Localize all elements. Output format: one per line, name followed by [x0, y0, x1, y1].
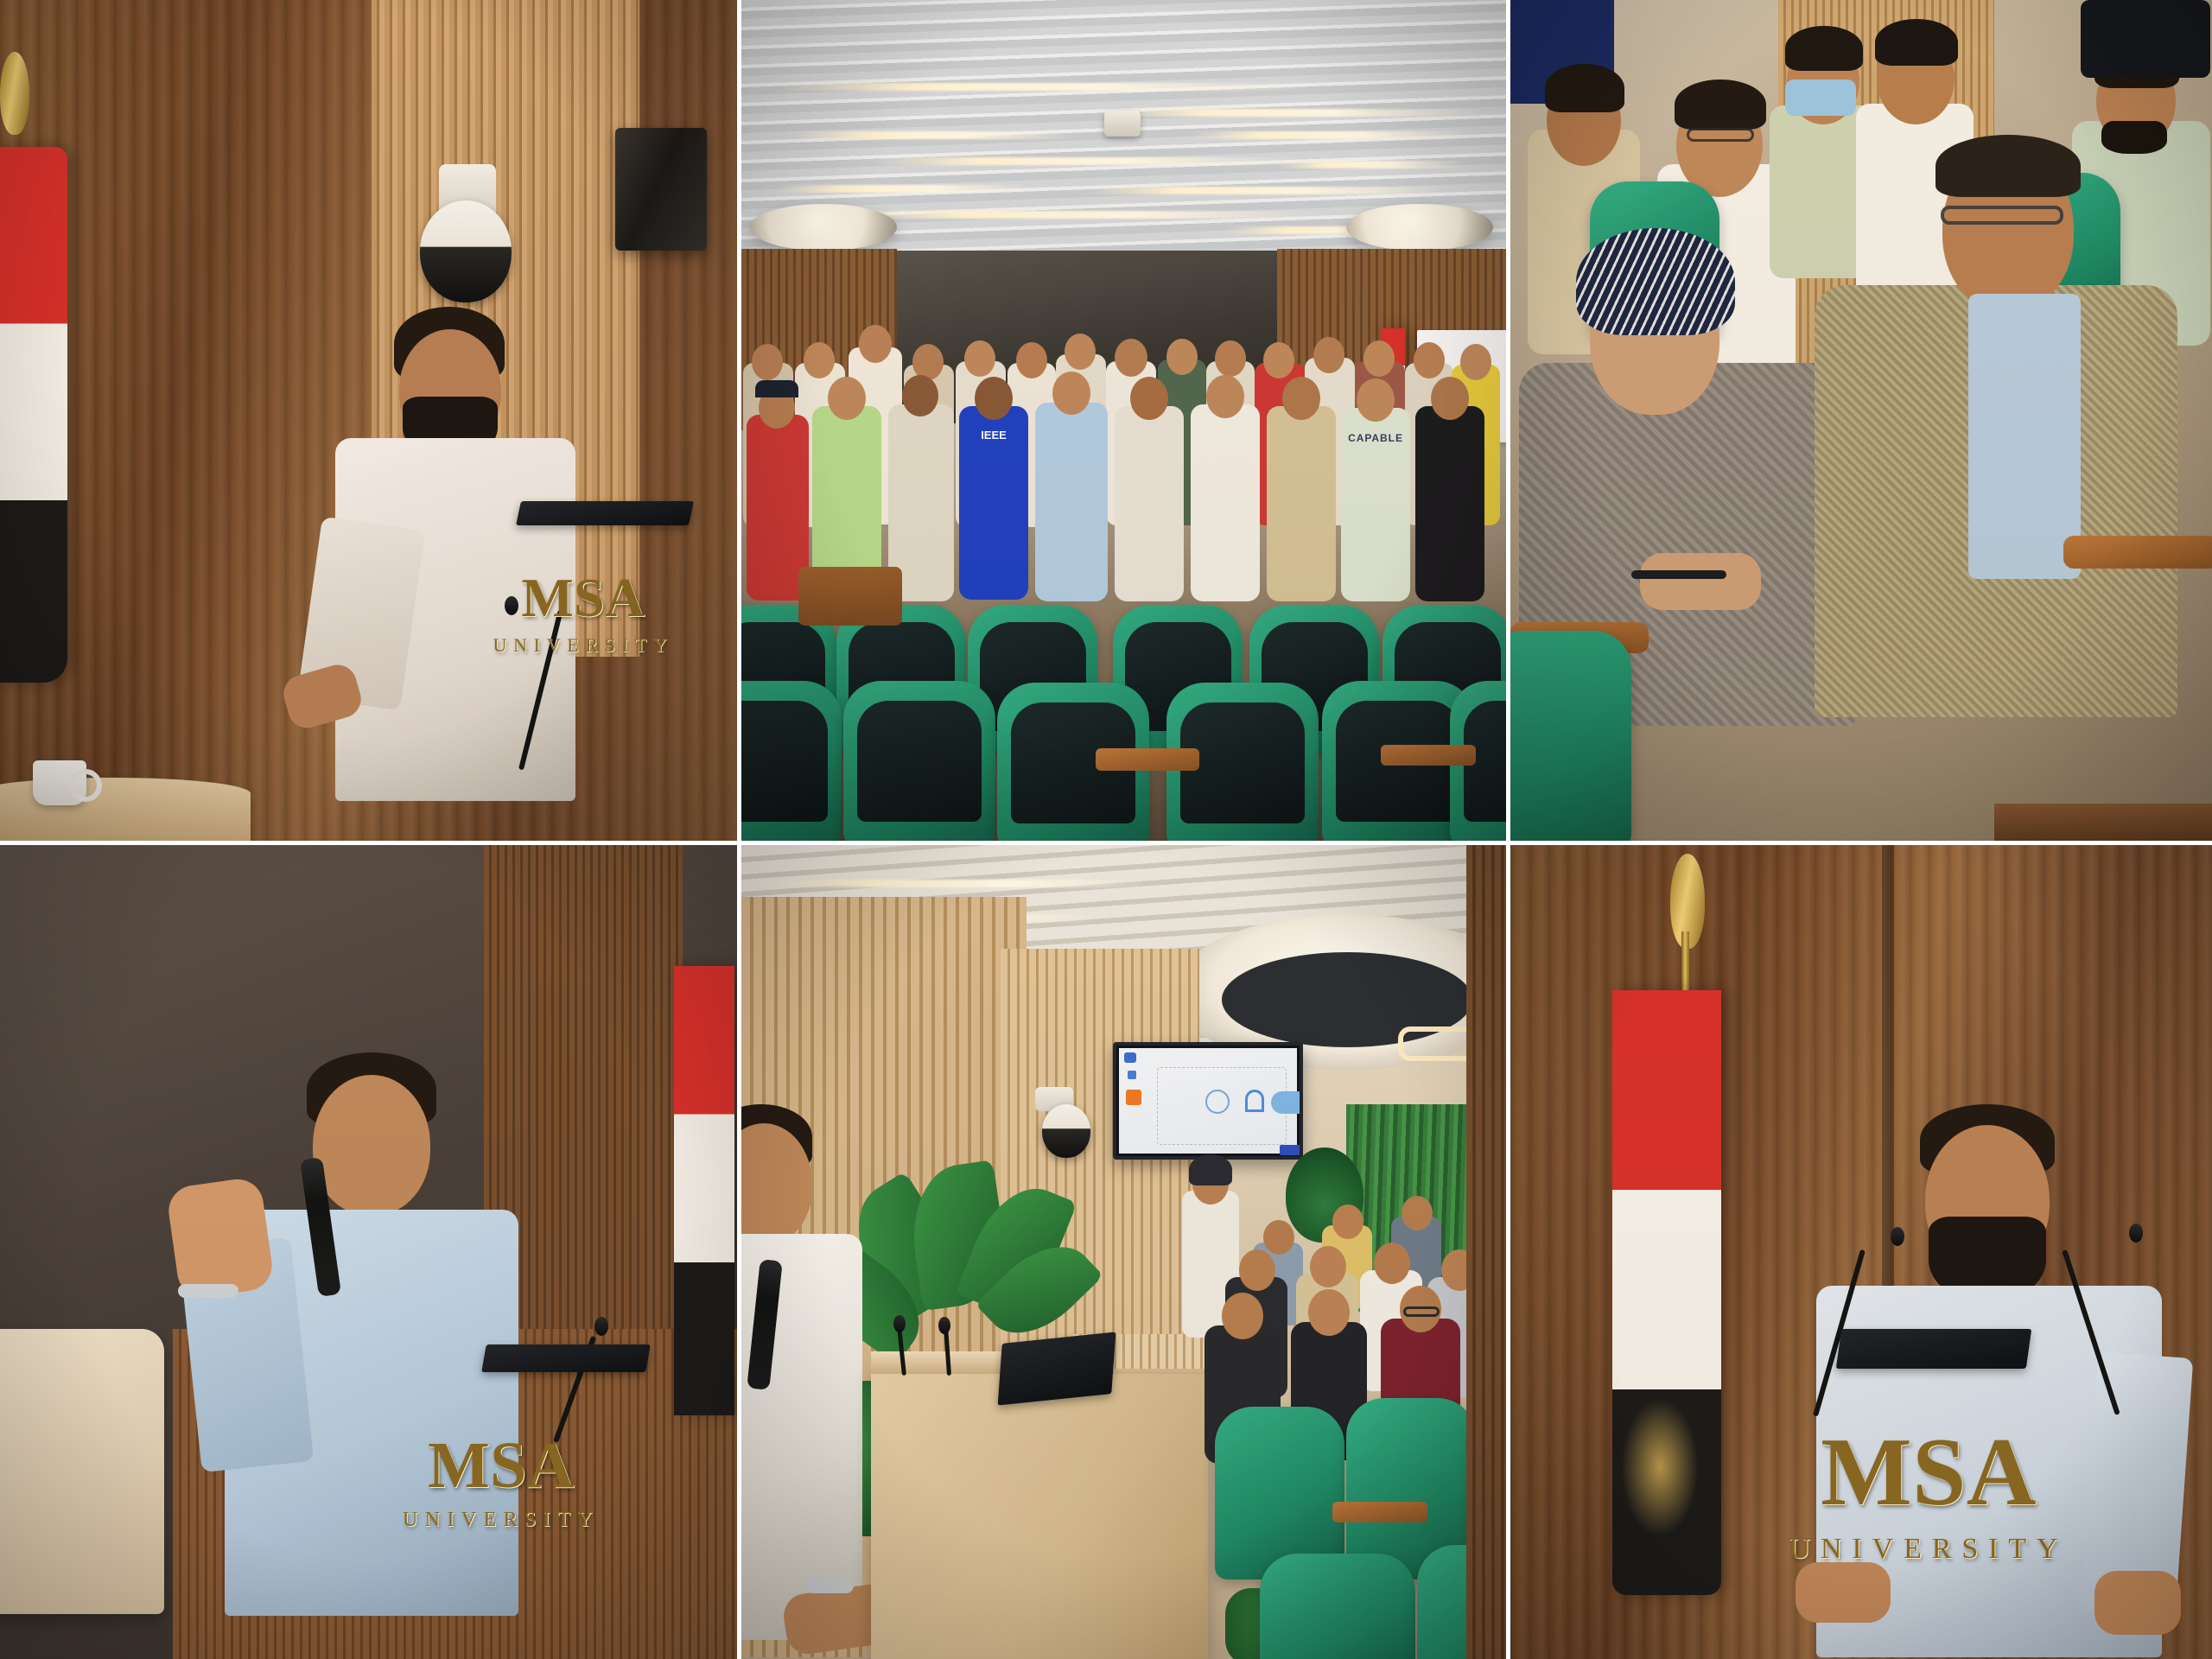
raised-hand — [165, 1176, 275, 1300]
cap-icon — [755, 380, 798, 397]
man-eyeglasses-icon — [1941, 206, 2063, 225]
microphone-head-icon-left — [1891, 1227, 1904, 1246]
woman-eyeglasses-held — [1631, 570, 1726, 579]
photo-collage: MSA UNIVERSITY Bearded speaker in white … — [0, 0, 2212, 1659]
laptop-on-podium — [516, 501, 694, 525]
photo-panel-top-right[interactable]: Seated audience: senior woman in headsca… — [1510, 0, 2212, 845]
tv-screen — [1119, 1048, 1297, 1154]
microphone-head-icon-2 — [938, 1317, 950, 1334]
tshirt-text-ieee: IEEE — [959, 429, 1028, 442]
green-chair-front — [1510, 631, 1631, 845]
presenter-hand-left — [1796, 1562, 1891, 1623]
man-dress-shirt — [1968, 294, 2081, 579]
podium-logo-msa: MSA — [449, 570, 717, 626]
egyptian-flag — [674, 966, 734, 1415]
podium-logo-university: UNIVERSITY — [320, 1509, 683, 1532]
presenter-hand-right — [2094, 1571, 2181, 1635]
security-camera-icon — [420, 200, 512, 302]
face-mask-icon — [1785, 79, 1856, 116]
laptop-on-podium — [481, 1344, 651, 1372]
podium-logo-university: UNIVERSITY — [1664, 1533, 2193, 1566]
ceiling-light-right — [1346, 204, 1493, 251]
wooden-tablet-arm-3 — [1381, 745, 1476, 766]
podium-logo: MSA UNIVERSITY — [1664, 1424, 2193, 1566]
photo-panel-bottom-center[interactable]: Wide view of the hall: presenter at lect… — [741, 845, 1510, 1659]
photo-panel-top-center[interactable]: LOUD — [741, 0, 1510, 845]
tshirt-text-capable: CAPABLE — [1341, 432, 1410, 444]
podium-logo: MSA UNIVERSITY — [449, 570, 717, 657]
coffee-cup — [33, 760, 86, 805]
presenter-figure — [320, 307, 605, 791]
microphone-head-icon-right — [2129, 1224, 2143, 1243]
woman-headscarf — [1576, 228, 1735, 335]
podium-logo: MSA UNIVERSITY — [320, 1433, 683, 1532]
microphone-head-icon-1 — [893, 1315, 906, 1332]
wood-column-right — [1466, 845, 1506, 1659]
woman-hands — [1640, 553, 1761, 610]
wall-speaker-icon — [615, 128, 707, 251]
standing-attendee-hair — [1189, 1154, 1232, 1185]
green-chair-4 — [1260, 1554, 1415, 1659]
wood-floor-edge — [1994, 804, 2212, 845]
wristwatch-icon — [178, 1284, 238, 1298]
presenter-figure — [1787, 1104, 2184, 1657]
wooden-tablet-arm — [798, 567, 902, 626]
tablet-on-lectern — [998, 1332, 1116, 1405]
cream-leather-chair — [0, 1329, 164, 1614]
flag-finial-icon — [0, 52, 29, 135]
wall-mounted-tv[interactable] — [1113, 1042, 1303, 1160]
tablet-on-lectern — [1836, 1329, 2031, 1369]
podium-logo-msa: MSA — [320, 1433, 683, 1498]
man-hair — [1935, 135, 2081, 197]
wooden-tablet-arm — [1332, 1502, 1427, 1522]
chair-armrest-right — [2063, 536, 2212, 569]
egyptian-flag — [0, 147, 67, 683]
eyeglasses-icon — [1687, 128, 1754, 142]
microphone-head-icon — [594, 1317, 608, 1336]
photo-panel-bottom-right[interactable]: MSA UNIVERSITY Bearded presenter in ligh… — [1510, 845, 2212, 1659]
security-camera-icon — [1042, 1104, 1090, 1158]
ceiling-projector-icon — [1104, 111, 1141, 137]
photo-panel-top-left[interactable]: MSA UNIVERSITY Bearded speaker in white … — [0, 0, 741, 845]
wristwatch-icon — [805, 1578, 854, 1593]
photo-panel-bottom-left[interactable]: MSA UNIVERSITY Speaker in light blue shi… — [0, 845, 741, 1659]
wooden-tablet-arm-2 — [1096, 748, 1199, 771]
ceiling-light-left — [750, 204, 897, 251]
podium-logo-university: UNIVERSITY — [449, 634, 717, 657]
podium-logo-msa: MSA — [1664, 1424, 2193, 1521]
lectern-front-panel — [871, 1363, 1208, 1659]
eyeglasses-icon — [1403, 1306, 1440, 1317]
